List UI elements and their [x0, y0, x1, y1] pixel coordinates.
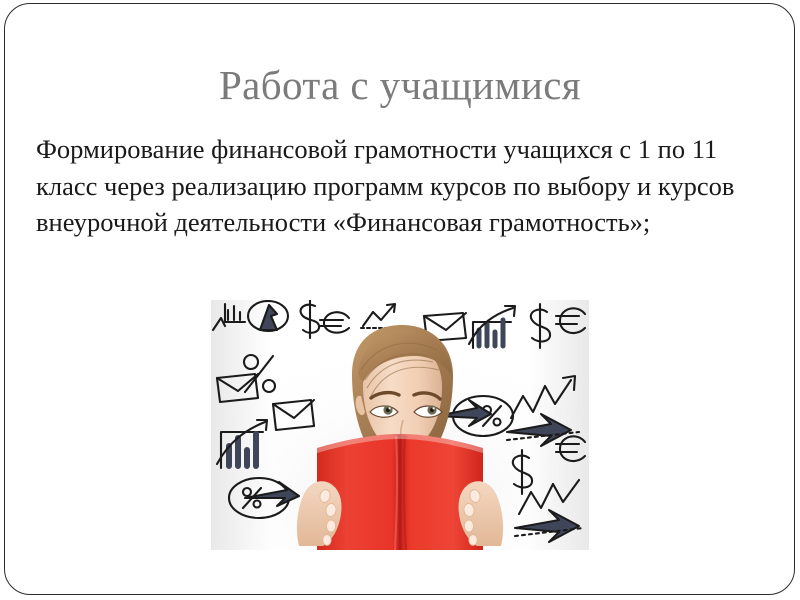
presentation-slide: Работа с учащимися Формирование финансов…	[0, 0, 800, 600]
slide-image	[211, 300, 589, 550]
slide-body-text: Формирование финансовой грамотности учащ…	[36, 131, 754, 241]
woman-head	[352, 325, 453, 450]
red-book	[317, 434, 483, 550]
page-title: Работа с учащимися	[0, 60, 800, 110]
woman-with-book	[211, 300, 589, 550]
